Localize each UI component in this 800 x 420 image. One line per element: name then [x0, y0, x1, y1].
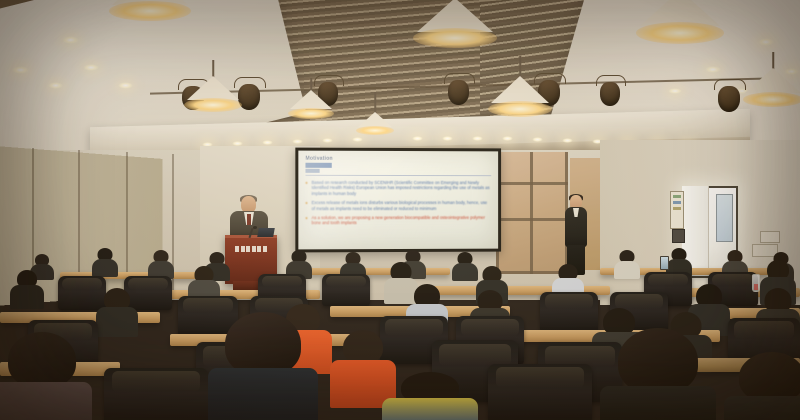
spot-light-icon	[262, 140, 273, 145]
audience-member-foreground-far-right	[724, 352, 800, 420]
wall-sign	[670, 191, 684, 229]
spot-light-icon	[668, 88, 682, 94]
pendant-lamp-icon	[70, 0, 230, 35]
slide-accent-bar	[305, 163, 331, 168]
torso	[208, 368, 318, 420]
microphone-head	[253, 226, 257, 229]
stage-light-icon	[600, 82, 620, 106]
audience-member	[10, 270, 44, 306]
spot-light-icon	[83, 64, 99, 71]
pendant-lamp-icon	[335, 92, 415, 148]
torso	[600, 386, 716, 420]
audience-member-foreground-left	[0, 332, 92, 420]
spot-light-icon	[62, 36, 79, 44]
wood-wall-panel	[496, 152, 568, 274]
spot-light-icon	[118, 82, 133, 89]
spot-light-icon	[442, 136, 453, 141]
torso	[452, 263, 478, 281]
slide-divider	[305, 175, 491, 176]
chair	[104, 368, 208, 420]
pendant-lamp-icon	[600, 0, 760, 53]
audience-member	[92, 248, 118, 276]
presenter-tie	[247, 214, 251, 225]
audience-member	[614, 250, 640, 278]
pendant-lamp-icon	[375, 0, 535, 60]
torso	[0, 382, 92, 420]
spot-light-icon	[758, 38, 774, 46]
door-window	[716, 194, 733, 242]
spot-light-icon	[472, 136, 483, 141]
torso	[614, 261, 640, 279]
slide-title: Motivation	[305, 156, 491, 163]
audience-member	[96, 288, 138, 334]
audience-member	[148, 250, 174, 278]
spot-light-icon	[532, 137, 543, 142]
spot-light-icon	[12, 66, 29, 74]
wall-outlet	[760, 231, 780, 243]
smartphone-icon	[660, 256, 669, 270]
torso	[96, 307, 138, 337]
pendant-lamp-icon	[465, 56, 575, 134]
torso	[92, 259, 118, 277]
head	[225, 312, 301, 376]
projection-screen: Motivation Based on research conducted b…	[298, 151, 498, 250]
torso	[382, 398, 478, 420]
slide-bullet: Excess release of metals ions disturbs v…	[305, 200, 491, 211]
head	[343, 330, 383, 364]
chair	[322, 274, 370, 306]
head	[739, 352, 800, 402]
spot-light-icon	[322, 138, 333, 143]
desk	[300, 268, 450, 275]
lecture-hall-photo: Motivation Based on research conducted b…	[0, 0, 800, 420]
torso	[10, 285, 44, 309]
chair	[540, 292, 598, 332]
pendant-lamp-icon	[163, 60, 263, 130]
spot-light-icon	[562, 138, 573, 143]
presentation-slide: Motivation Based on research conducted b…	[298, 151, 498, 250]
audience-member-foreground-right	[600, 328, 716, 420]
slide-bullet-highlight: As a solution, we are proposing a new ge…	[305, 215, 491, 226]
head	[618, 328, 698, 394]
pendant-lamp-icon	[718, 52, 800, 122]
audience-member	[452, 252, 478, 280]
chair	[488, 364, 592, 420]
audience-member-foreground-center	[208, 312, 318, 420]
standing-attendant	[563, 195, 589, 275]
spot-light-icon	[48, 82, 63, 89]
head	[8, 332, 76, 388]
slide-bullet: Based on research conducted by SCENIHR (…	[305, 180, 491, 196]
audience-member-yellow-jacket	[382, 372, 478, 420]
podium-logo	[231, 245, 271, 252]
torso	[724, 396, 800, 420]
slide-bullet-list: Based on research conducted by SCENIHR (…	[305, 180, 491, 226]
spot-light-icon	[502, 136, 513, 141]
wall-control-panel[interactable]	[672, 229, 685, 243]
slide-accent-bar-secondary	[305, 169, 319, 173]
laptop-icon	[257, 228, 275, 237]
spot-light-icon	[292, 139, 303, 144]
